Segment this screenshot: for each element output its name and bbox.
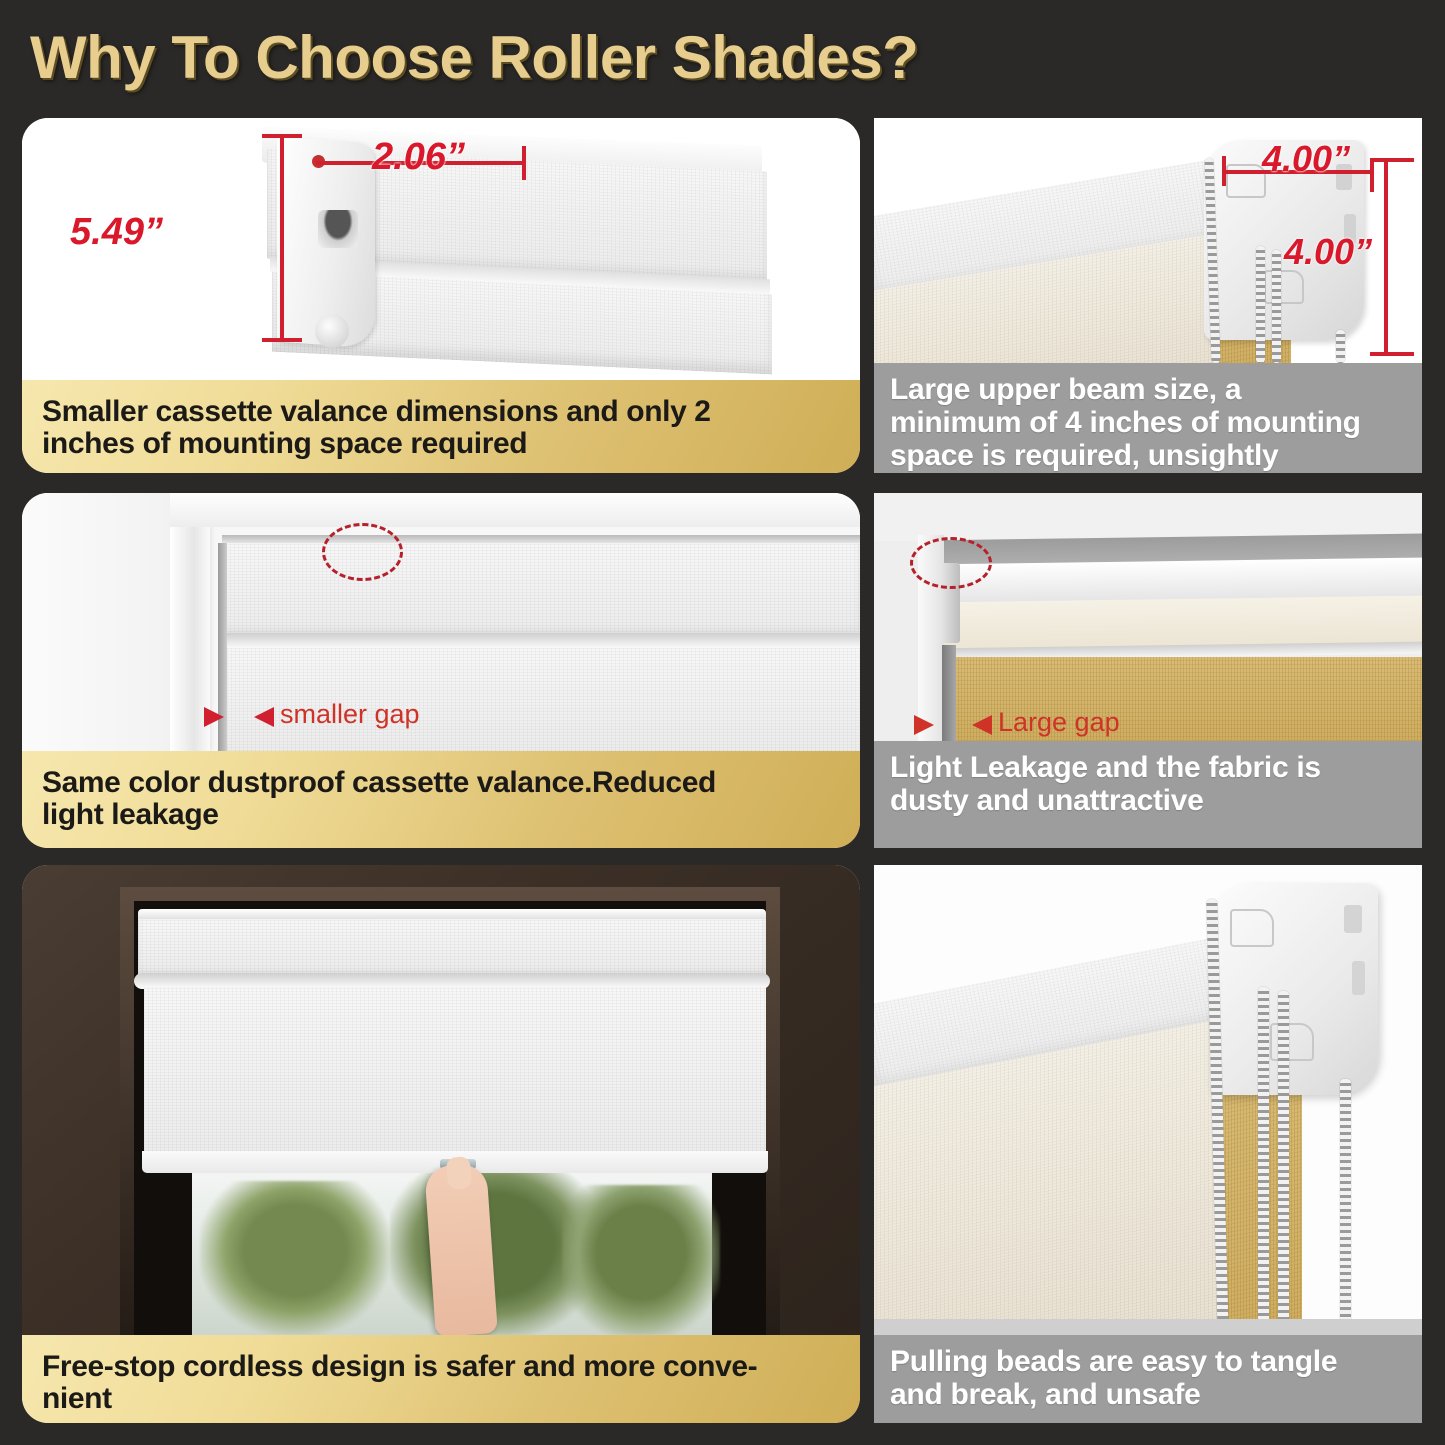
floor-shadow — [874, 1319, 1422, 1335]
large-gap-shadow — [942, 645, 956, 741]
headrail-face — [138, 919, 766, 975]
panel-2-caption-line-3: space is required, unsightly — [890, 439, 1361, 472]
beam-height-dim-line — [1384, 158, 1388, 356]
beam-height-tick-bottom — [1370, 352, 1414, 356]
large-gap-highlight-ellipse — [910, 537, 992, 589]
shade-fabric-main — [144, 987, 766, 1157]
tree-right — [562, 1185, 720, 1335]
panel-1-caption: Smaller cassette valance dimensions and … — [22, 380, 860, 473]
panel-2-photo: 4.00” 4.00” — [874, 118, 1422, 363]
height-dimension-label: 5.49” — [70, 211, 163, 254]
bracket-emblem-upper-icon-2 — [1230, 909, 1274, 947]
width-dim-tick-right — [522, 146, 526, 180]
panel-3-caption: Same color dustproof cassette valance.Re… — [22, 751, 860, 848]
beam-height-dimension-label: 4.00” — [1284, 231, 1372, 273]
panel-1-caption-line-1: Smaller cassette valance dimensions and … — [42, 396, 711, 428]
beam-width-tick-left — [1222, 156, 1226, 186]
panel-2-caption: Large upper beam size, a minimum of 4 in… — [874, 363, 1422, 473]
panel-4-photo: Large gap — [874, 493, 1422, 741]
gap-highlight-ellipse — [322, 523, 403, 581]
bead-chain-2 — [1256, 246, 1265, 363]
panel-light-leakage: Large gap Light Leakage and the fabric i… — [874, 493, 1422, 848]
panel-1-caption-line-2: inches of mounting space required — [42, 428, 711, 460]
panel-pulling-beads: Pulling beads are easy to tangle and bre… — [874, 865, 1422, 1423]
beam-width-tick-right — [1370, 160, 1374, 192]
window-frame-top — [170, 493, 860, 527]
smaller-gap-label: smaller gap — [280, 699, 420, 730]
beam-width-dimension-label: 4.00” — [1262, 138, 1350, 180]
panel-smaller-cassette: 2.06” 5.49” Smaller cassette valance dim… — [22, 118, 860, 473]
panel-6-caption: Pulling beads are easy to tangle and bre… — [874, 1335, 1422, 1423]
bead-chain-4 — [1336, 330, 1345, 363]
end-cap-screw-icon — [315, 314, 349, 348]
page-title: Why To Choose Roller Shades? — [30, 18, 1410, 98]
large-gap-arrow-right-icon — [972, 715, 992, 735]
panel-5-caption-line-2: nient — [42, 1383, 757, 1415]
beam-height-tick-top — [1370, 158, 1414, 162]
bracket-emblem-lower-icon — [1264, 270, 1304, 304]
infographic-page: Why To Choose Roller Shades? 2.06” 5.49” — [0, 0, 1445, 1445]
panel-4-caption-line-2: dusty and unattractive — [890, 784, 1321, 817]
width-dimension-label: 2.06” — [372, 136, 465, 179]
cassette-bottom-rail — [222, 633, 860, 649]
tree-left — [200, 1181, 390, 1335]
large-gap-label: Large gap — [998, 707, 1120, 738]
wall-surface — [22, 493, 172, 751]
large-gap-arrow-left-icon — [914, 715, 934, 735]
bead-chain-3 — [1272, 250, 1281, 363]
panel-4-caption: Light Leakage and the fabric is dusty an… — [874, 741, 1422, 848]
panel-6-caption-line-2: and break, and unsafe — [890, 1378, 1337, 1411]
gap-arrow-left-icon — [204, 707, 224, 727]
panel-5-caption-line-1: Free-stop cordless design is safer and m… — [42, 1351, 757, 1383]
bead-chain-b — [1258, 987, 1269, 1335]
thumb — [445, 1156, 472, 1190]
height-dim-line — [280, 134, 284, 342]
bead-chain-c — [1278, 991, 1289, 1335]
end-cap-slot-icon — [318, 210, 358, 248]
bracket-emblem-lower-icon-2 — [1270, 1023, 1314, 1061]
panel-4-caption-line-1: Light Leakage and the fabric is — [890, 751, 1321, 784]
bead-chain-d — [1340, 1079, 1351, 1335]
bracket-slot-a — [1344, 905, 1362, 933]
panel-large-upper-beam: 4.00” 4.00” Large upper beam size, a min… — [874, 118, 1422, 473]
panel-3-photo: smaller gap — [22, 493, 860, 751]
cassette-valance-face — [222, 543, 860, 635]
panel-2-caption-line-2: minimum of 4 inches of mounting — [890, 406, 1361, 439]
panel-dustproof-valance: smaller gap Same color dustproof cassett… — [22, 493, 860, 848]
panel-6-caption-line-1: Pulling beads are easy to tangle — [890, 1345, 1337, 1378]
gap-arrow-right-icon — [254, 707, 274, 727]
bracket-slot-b — [1352, 961, 1365, 995]
height-dim-tick-top — [262, 134, 302, 138]
panel-3-caption-line-1: Same color dustproof cassette valance.Re… — [42, 767, 716, 799]
panel-5-caption: Free-stop cordless design is safer and m… — [22, 1335, 860, 1423]
panel-3-caption-line-2: light leakage — [42, 799, 716, 831]
height-dim-tick-bottom — [262, 338, 302, 342]
panel-1-photo: 2.06” 5.49” — [22, 118, 860, 380]
panel-free-stop-cordless: Free-stop cordless design is safer and m… — [22, 865, 860, 1423]
panel-6-photo — [874, 865, 1422, 1335]
panel-2-caption-line-1: Large upper beam size, a — [890, 373, 1361, 406]
panel-5-photo — [22, 865, 860, 1335]
